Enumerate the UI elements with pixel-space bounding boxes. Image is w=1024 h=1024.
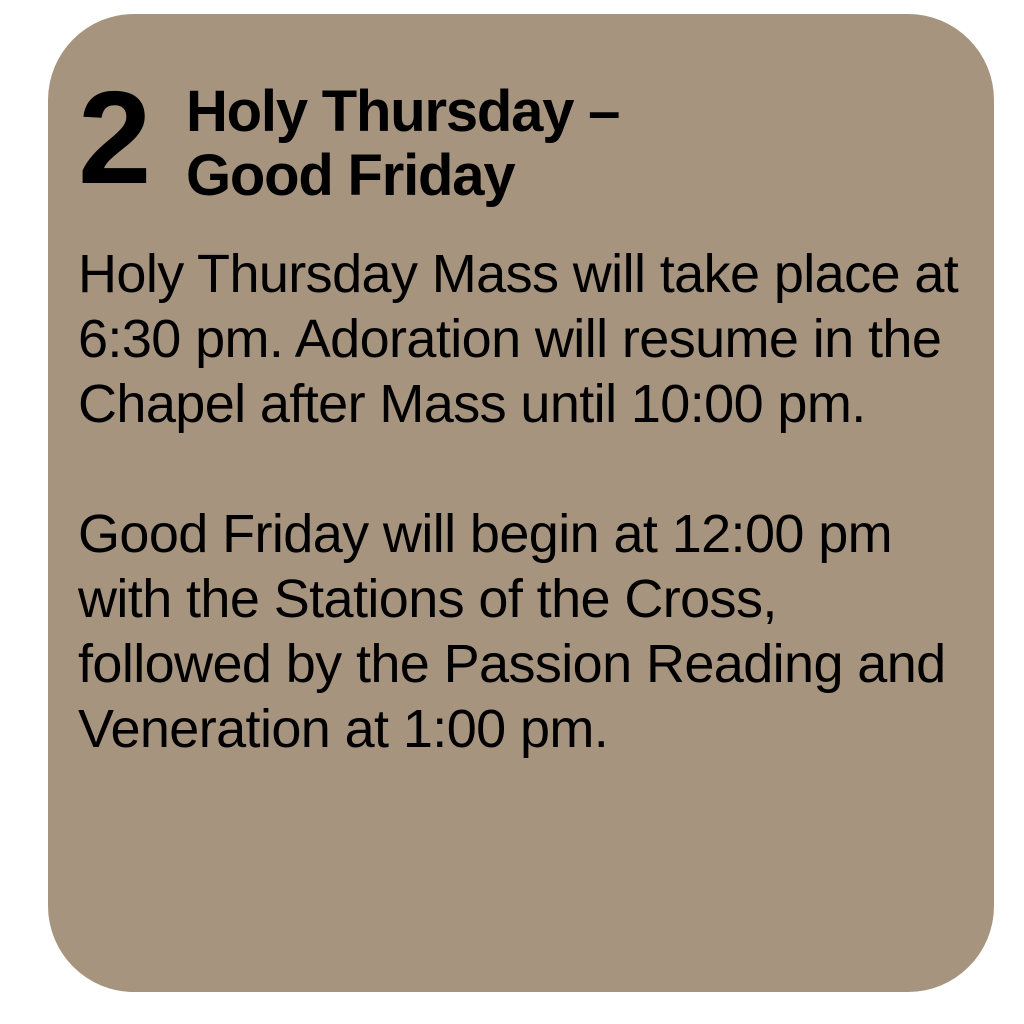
announcement-heading: 2 Holy Thursday – Good Friday	[78, 72, 974, 208]
announcement-body: Holy Thursday Mass will take place at 6:…	[78, 242, 968, 762]
item-number: 2	[78, 76, 186, 200]
page-title: Holy Thursday – Good Friday	[186, 72, 619, 208]
paragraph-spacer	[78, 437, 968, 502]
announcement-card: 2 Holy Thursday – Good Friday Holy Thurs…	[48, 14, 994, 992]
body-paragraph-holy-thursday: Holy Thursday Mass will take place at 6:…	[78, 242, 968, 437]
announcement-card-frame: 2 Holy Thursday – Good Friday Holy Thurs…	[10, 0, 1014, 1022]
body-paragraph-good-friday: Good Friday will begin at 12:00 pm with …	[78, 502, 968, 762]
